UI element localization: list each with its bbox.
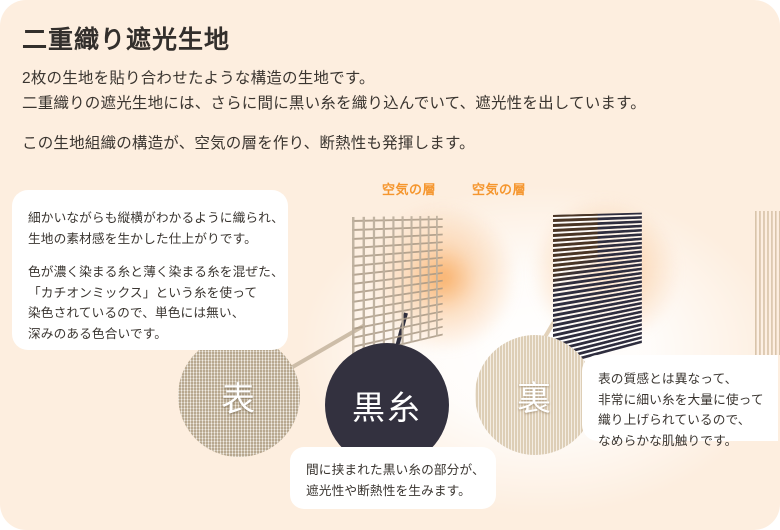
callout-back-fabric-text: 表の質感とは異なって、 非常に細い糸を大量に使って 織り上げられているので、 な…	[598, 369, 764, 451]
back-fabric-weave	[755, 210, 780, 361]
front-fabric-weave	[352, 216, 443, 357]
callout-back-fabric: 表の質感とは異なって、 非常に細い糸を大量に使って 織り上げられているので、 な…	[582, 355, 778, 441]
circle-black-yarn-label: 黒糸	[352, 381, 422, 429]
callout-black-yarn-text: 間に挟まれた黒い糸の部分が、 遮光性や断熱性を生みます。	[306, 460, 485, 501]
circle-back-side-label: 裏	[517, 371, 553, 420]
page-title: 二重織り遮光生地	[22, 20, 230, 56]
lead-paragraph-2: この生地組織の構造が、空気の層を作り、断熱性も発揮します。	[22, 131, 475, 156]
callout-front-fabric: 細かいながらも縦横がわかるように織られ、 生地の素材感を生かした仕上がりです。 …	[12, 190, 288, 350]
fabric-info-panel: 二重織り遮光生地 2枚の生地を貼り合わせたような構造の生地です。 二重織りの遮光…	[0, 0, 780, 530]
lead-paragraph-1: 2枚の生地を貼り合わせたような構造の生地です。 二重織りの遮光生地には、さらに間…	[22, 66, 646, 116]
circle-front-side: 表	[178, 335, 300, 457]
circle-back-side: 裏	[475, 335, 595, 455]
circle-front-side-label: 表	[221, 372, 257, 421]
diagram-stage: 空気の層 空気の層 表 裏 黒糸 細かいながらも縦横がわかるように織られ、 生地…	[0, 175, 780, 530]
callout-front-fabric-text-2: 色が濃く染まる糸と薄く染まる糸を混ぜた、 「カチオンミックス」という糸を使って …	[28, 262, 284, 344]
callout-black-yarn: 間に挟まれた黒い糸の部分が、 遮光性や断熱性を生みます。	[290, 447, 496, 509]
callout-front-fabric-text-1: 細かいながらも縦横がわかるように織られ、 生地の素材感を生かした仕上がりです。	[28, 208, 284, 249]
